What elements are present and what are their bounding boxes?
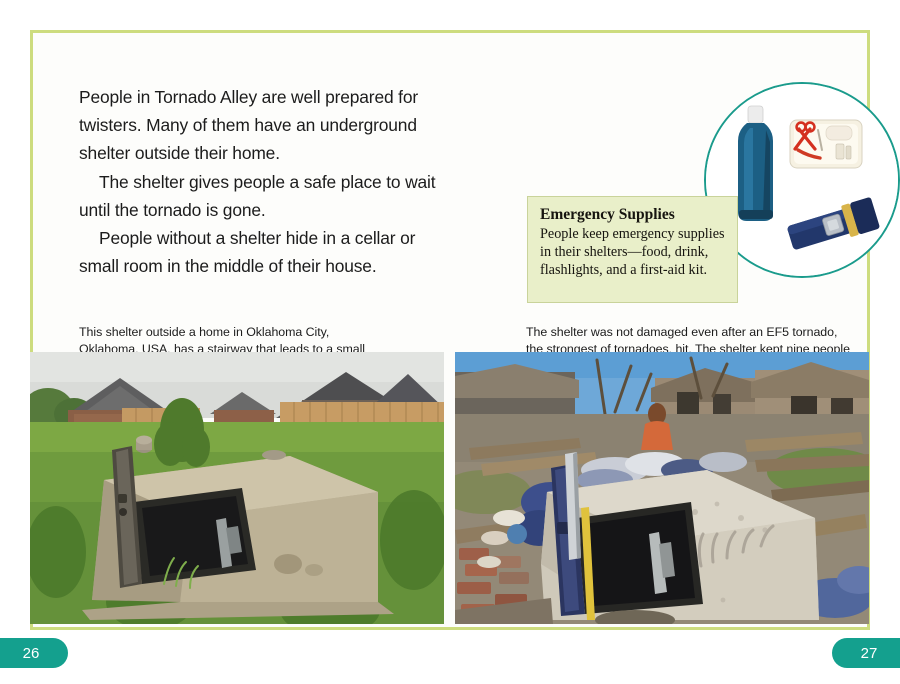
body-paragraph-3: People without a shelter hide in a cella… (79, 224, 445, 280)
page-number-right: 27 (832, 638, 900, 668)
emergency-supplies-callout: Emergency Supplies People keep emergency… (527, 196, 738, 303)
photo-shelter-after-tornado (455, 352, 869, 624)
page-number-left: 26 (0, 638, 68, 668)
body-paragraph-2: The shelter gives people a safe place to… (79, 168, 445, 224)
body-paragraph-1: People in Tornado Alley are well prepare… (79, 83, 445, 168)
callout-body: People keep emergency supplies in their … (540, 225, 725, 280)
photo-shelter-backyard-image (30, 352, 444, 624)
photo-shelter-after-tornado-image (455, 352, 869, 624)
callout-title: Emergency Supplies (540, 206, 725, 224)
photo-shelter-backyard (30, 352, 444, 624)
body-text-block: People in Tornado Alley are well prepare… (79, 83, 445, 280)
first-aid-kit-icon (790, 120, 862, 168)
